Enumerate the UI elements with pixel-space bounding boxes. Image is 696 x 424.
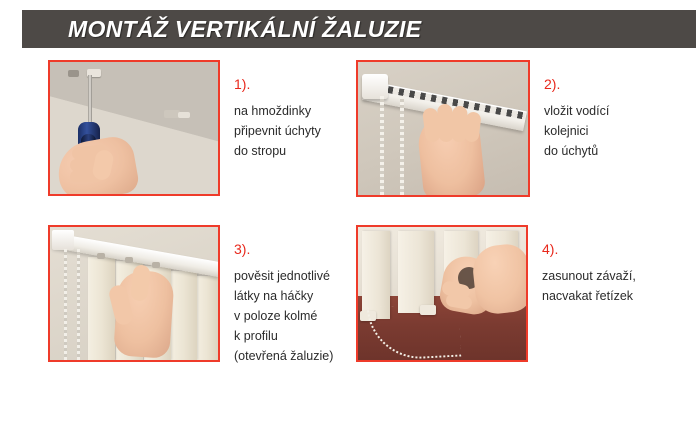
step-1-line-3: do stropu [234, 141, 352, 161]
rail-end-cap-icon [52, 230, 74, 250]
step-1: 1). na hmoždinky připevnit úchyty do str… [48, 60, 352, 196]
steps-row-bottom: 3). pověsit jednotlivé látky na háčky v … [0, 225, 696, 366]
fabric-slat-icon [170, 271, 197, 360]
step-1-caption: 1). na hmoždinky připevnit úchyty do str… [220, 60, 352, 161]
screwdriver-shaft-icon [88, 75, 92, 127]
step-2-line-1: vložit vodící [544, 101, 694, 121]
page-title: MONTÁŽ VERTIKÁLNÍ ŽALUZIE [68, 16, 421, 43]
rail-end-cap-icon [362, 74, 388, 99]
fabric-slat-icon [196, 276, 218, 360]
step-1-line-1: na hmoždinky [234, 101, 352, 121]
control-cord-icon [64, 249, 67, 360]
step-3-number: 3). [234, 241, 352, 257]
ceiling-bracket-far-cap-icon [178, 112, 190, 118]
step-4: 4). zasunout závaží, nacvakat řetízek [356, 225, 692, 362]
control-cord-icon [380, 96, 384, 195]
step-3-line-1: pověsit jednotlivé [234, 266, 352, 286]
photo-step-1-screwdriver-ceiling [48, 60, 220, 196]
steps-row-top: 1). na hmoždinky připevnit úchyty do str… [0, 60, 696, 197]
step-2-line-3: do úchytů [544, 141, 694, 161]
step-3-line-5: (otevřená žaluzie) [234, 346, 352, 366]
photo-step-4-weights-chain [356, 225, 528, 362]
slat-hook-icon [97, 253, 105, 259]
page-header-bar: MONTÁŽ VERTIKÁLNÍ ŽALUZIE [22, 10, 696, 48]
step-2-number: 2). [544, 76, 694, 92]
control-cord-icon [77, 249, 80, 360]
fabric-slat-icon [88, 257, 115, 360]
step-3-line-2: látky na háčky [234, 286, 352, 306]
slat-hook-icon [125, 257, 133, 263]
step-4-line-1: zasunout závaží, [542, 266, 692, 286]
hand-icon [471, 242, 528, 315]
step-2-line-2: kolejnici [544, 121, 694, 141]
ceiling-bracket-left-icon [68, 70, 79, 77]
step-3-caption: 3). pověsit jednotlivé látky na háčky v … [220, 225, 352, 366]
step-1-line-2: připevnit úchyty [234, 121, 352, 141]
control-cord-icon [400, 96, 404, 195]
step-1-number: 1). [234, 76, 352, 92]
step-2: 2). vložit vodící kolejnici do úchytů [356, 60, 694, 197]
step-4-number: 4). [542, 241, 692, 257]
photo-step-3-hang-slats [48, 225, 220, 362]
slat-hook-icon [152, 262, 160, 268]
step-3: 3). pověsit jednotlivé látky na háčky v … [48, 225, 352, 366]
fabric-slat-icon [398, 231, 434, 313]
photo-step-2-insert-rail [356, 60, 530, 197]
step-2-caption: 2). vložit vodící kolejnici do úchytů [530, 60, 694, 161]
step-3-line-4: k profilu [234, 326, 352, 346]
steps-container: 1). na hmoždinky připevnit úchyty do str… [0, 60, 696, 366]
step-4-caption: 4). zasunout závaží, nacvakat řetízek [528, 225, 692, 306]
step-4-line-2: nacvakat řetízek [542, 286, 692, 306]
step-3-line-3: v poloze kolmé [234, 306, 352, 326]
